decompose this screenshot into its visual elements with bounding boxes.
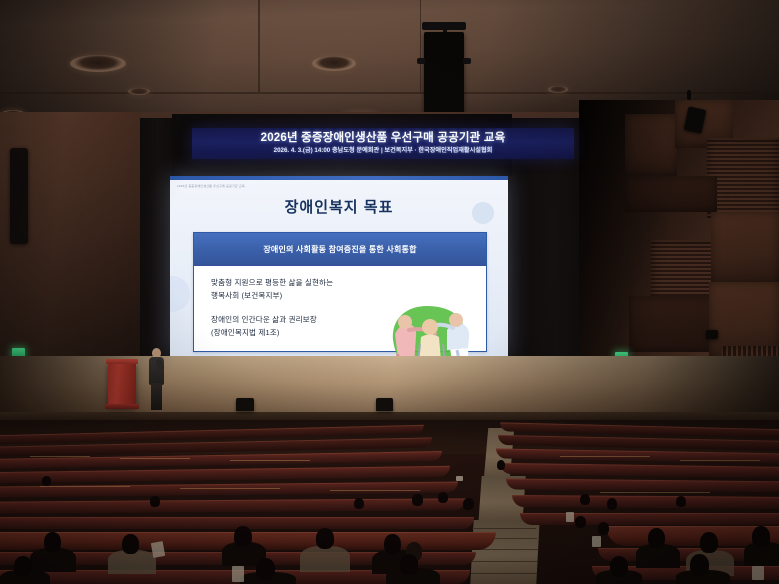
- banner-title: 2026년 중증장애인생산품 우선구매 공공기관 교육: [261, 133, 506, 145]
- handout-paper: [752, 566, 764, 580]
- slide-body-line: 행복사회 (보건복지부): [211, 290, 282, 301]
- audience-head: [256, 558, 275, 580]
- event-banner: 2026년 중증장애인생산품 우선구매 공공기관 교육 2026. 4. 3.(…: [192, 128, 574, 159]
- hanging-cable: [687, 90, 691, 100]
- audience-head: [150, 496, 160, 507]
- presenter: [148, 348, 166, 410]
- slide-card-header: 장애인의 사회활동 참여증진을 통한 사회통합: [194, 233, 486, 266]
- center-aisle-steps: [470, 520, 539, 584]
- audience-head: [438, 492, 448, 503]
- auditorium-photo: 2026년 중증장애인생산품 우선구매 공공기관 교육 2026. 4. 3.(…: [0, 0, 779, 584]
- audience-shoulders: [300, 546, 350, 572]
- audience-head: [463, 498, 474, 510]
- ceiling-seam: [258, 0, 260, 92]
- projector-bracket: [463, 58, 471, 64]
- seat-highlight: [180, 488, 280, 489]
- aisle-step: [470, 561, 539, 562]
- slide-illustration: [385, 300, 477, 356]
- lectern-top: [106, 359, 138, 364]
- seat-highlight: [120, 458, 190, 459]
- audience-head: [400, 554, 418, 575]
- audience-head: [607, 498, 617, 510]
- handout-paper: [232, 566, 244, 582]
- stage-monitor-icon: [236, 398, 254, 411]
- audience-head: [676, 496, 686, 507]
- wall-speaker-icon: [10, 148, 28, 244]
- seat-highlight: [30, 456, 90, 457]
- audience-head: [384, 534, 401, 554]
- wheelchair-illustration-icon: [385, 300, 477, 356]
- slide-title: 장애인복지 목표: [170, 196, 508, 217]
- ceiling-downlight-icon: [548, 86, 568, 93]
- wall-speaker-icon: [706, 330, 718, 339]
- seat-highlight: [330, 490, 420, 491]
- seat-highlight: [680, 460, 760, 461]
- ceiling-seam: [0, 92, 779, 94]
- audience-head: [316, 528, 334, 549]
- seat-highlight: [600, 492, 710, 493]
- ceiling-downlight-icon: [128, 88, 150, 95]
- audience-head: [497, 460, 505, 470]
- audience-head: [690, 554, 709, 576]
- seat-row: [512, 495, 779, 509]
- audience-head: [412, 494, 423, 506]
- audience-head: [648, 528, 665, 548]
- ceiling-downlight-icon: [312, 56, 356, 71]
- seat-row: [506, 478, 779, 492]
- seat-row: [0, 498, 466, 513]
- slide-body-line: 장애인의 인간다운 삶과 권리보장: [211, 314, 317, 325]
- presenter-legs: [151, 383, 162, 410]
- audience-head: [122, 534, 139, 554]
- banner-subtitle: 2026. 4. 3.(금) 14:00 충남도청 문예회관 | 보건복지부 ·…: [274, 148, 493, 154]
- ceiling-seam: [420, 0, 421, 92]
- seat-row: [500, 463, 779, 478]
- slide-card-heading-text: 장애인의 사회활동 참여증진을 통한 사회통합: [263, 244, 416, 255]
- seat-row: [0, 466, 450, 483]
- audience-head: [42, 476, 51, 486]
- audience-head: [580, 494, 590, 505]
- audience-head: [752, 526, 770, 547]
- seat-highlight: [40, 486, 130, 487]
- seat-highlight: [560, 456, 650, 457]
- slide-kicker: 2026년 중증장애인생산품 우선구매 공공기관 교육: [177, 184, 245, 188]
- audience-seating-area: [0, 420, 779, 584]
- presentation-slide: 2026년 중증장애인생산품 우선구매 공공기관 교육 장애인복지 목표 장애인…: [170, 180, 508, 356]
- audience-head: [234, 526, 252, 547]
- handout-paper: [592, 536, 601, 547]
- handout-paper: [151, 541, 165, 558]
- aisle-step: [469, 573, 540, 574]
- slide-card-body: 맞춤형 지원으로 평등한 삶을 실현하는 행복사회 (보건복지부) 장애인의 인…: [199, 270, 481, 348]
- projector-bracket: [417, 58, 425, 64]
- lectern: [108, 362, 136, 406]
- handout-paper: [566, 512, 574, 522]
- ceiling-downlight-icon: [70, 55, 126, 72]
- audience-head: [44, 532, 61, 552]
- audience-head: [610, 556, 628, 577]
- handout-paper: [456, 476, 463, 481]
- slide-body-line: (장애인복지법 제1조): [211, 327, 279, 338]
- audience-head: [354, 498, 364, 509]
- audience-head: [14, 556, 32, 577]
- slide-body-line: 맞춤형 지원으로 평등한 삶을 실현하는: [211, 277, 333, 288]
- projection-screen: 2026년 중증장애인생산품 우선구매 공공기관 교육 장애인복지 목표 장애인…: [170, 176, 508, 356]
- audience-head: [598, 522, 609, 535]
- aisle-step: [474, 528, 536, 529]
- audience-head: [575, 516, 586, 528]
- stage-monitor-icon: [376, 398, 393, 411]
- audience-head: [700, 532, 718, 553]
- seat-highlight: [230, 460, 310, 461]
- slide-content-card: 장애인의 사회활동 참여증진을 통한 사회통합 맞춤형 지원으로 평등한 삶을 …: [193, 232, 487, 352]
- seat-row: [520, 513, 779, 525]
- lectern-base: [105, 404, 139, 409]
- decorative-circle: [170, 276, 190, 312]
